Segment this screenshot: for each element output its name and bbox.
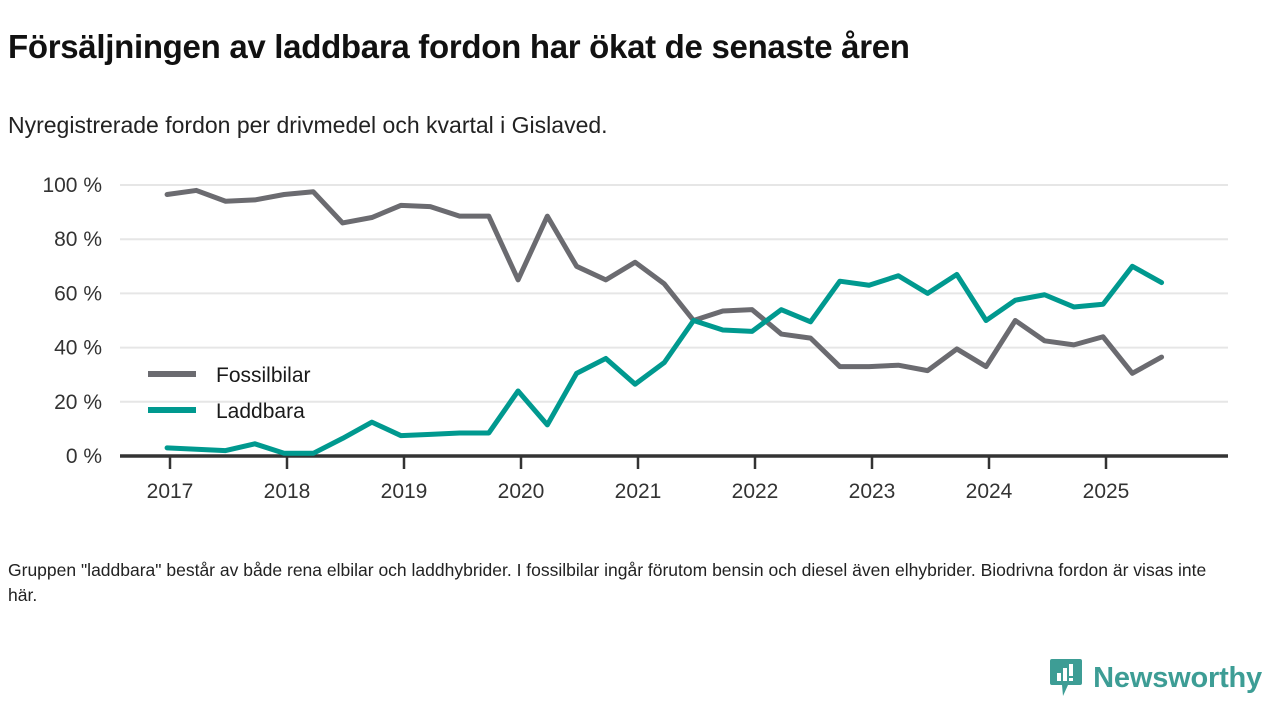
series-line-fossilbilar: [167, 190, 1162, 373]
x-axis-tick-label: 2024: [966, 480, 1013, 503]
y-axis-tick-label: 60 %: [54, 282, 102, 305]
data-series: [167, 190, 1162, 453]
brand-name: Newsworthy: [1093, 662, 1262, 695]
y-axis-tick-label: 100 %: [42, 174, 102, 197]
x-axis-tick-label: 2019: [381, 480, 428, 503]
x-axis: 201720182019202020212022202320242025: [120, 456, 1228, 503]
x-axis-tick-label: 2021: [615, 480, 662, 503]
y-axis-tick-label: 40 %: [54, 337, 102, 360]
x-axis-tick-label: 2017: [147, 480, 194, 503]
brand-logo-group: Newsworthy: [1049, 658, 1262, 698]
line-chart: 0 %20 %40 %60 %80 %100 % 201720182019202…: [0, 160, 1280, 520]
bar-chart-bubble-icon: [1049, 658, 1083, 698]
chart-legend: FossilbilarLaddbara: [148, 364, 311, 423]
chart-subtitle: Nyregistrerade fordon per drivmedel och …: [8, 112, 608, 139]
y-axis-tick-label: 0 %: [66, 445, 102, 468]
chart-page: Försäljningen av laddbara fordon har öka…: [0, 0, 1280, 720]
y-axis-tick-label: 20 %: [54, 391, 102, 414]
x-axis-tick-label: 2018: [264, 480, 311, 503]
y-axis-tick-label: 80 %: [54, 228, 102, 251]
page-title: Försäljningen av laddbara fordon har öka…: [8, 28, 910, 66]
chart-footnote: Gruppen "laddbara" består av både rena e…: [8, 558, 1223, 609]
x-axis-tick-label: 2022: [732, 480, 779, 503]
chart-plot-area: 0 %20 %40 %60 %80 %100 % 201720182019202…: [0, 160, 1280, 520]
x-axis-tick-label: 2020: [498, 480, 545, 503]
y-axis-tick-labels: 0 %20 %40 %60 %80 %100 %: [42, 174, 102, 468]
x-axis-tick-label: 2023: [849, 480, 896, 503]
legend-label: Laddbara: [216, 400, 305, 423]
legend-label: Fossilbilar: [216, 364, 311, 387]
x-axis-tick-label: 2025: [1083, 480, 1130, 503]
